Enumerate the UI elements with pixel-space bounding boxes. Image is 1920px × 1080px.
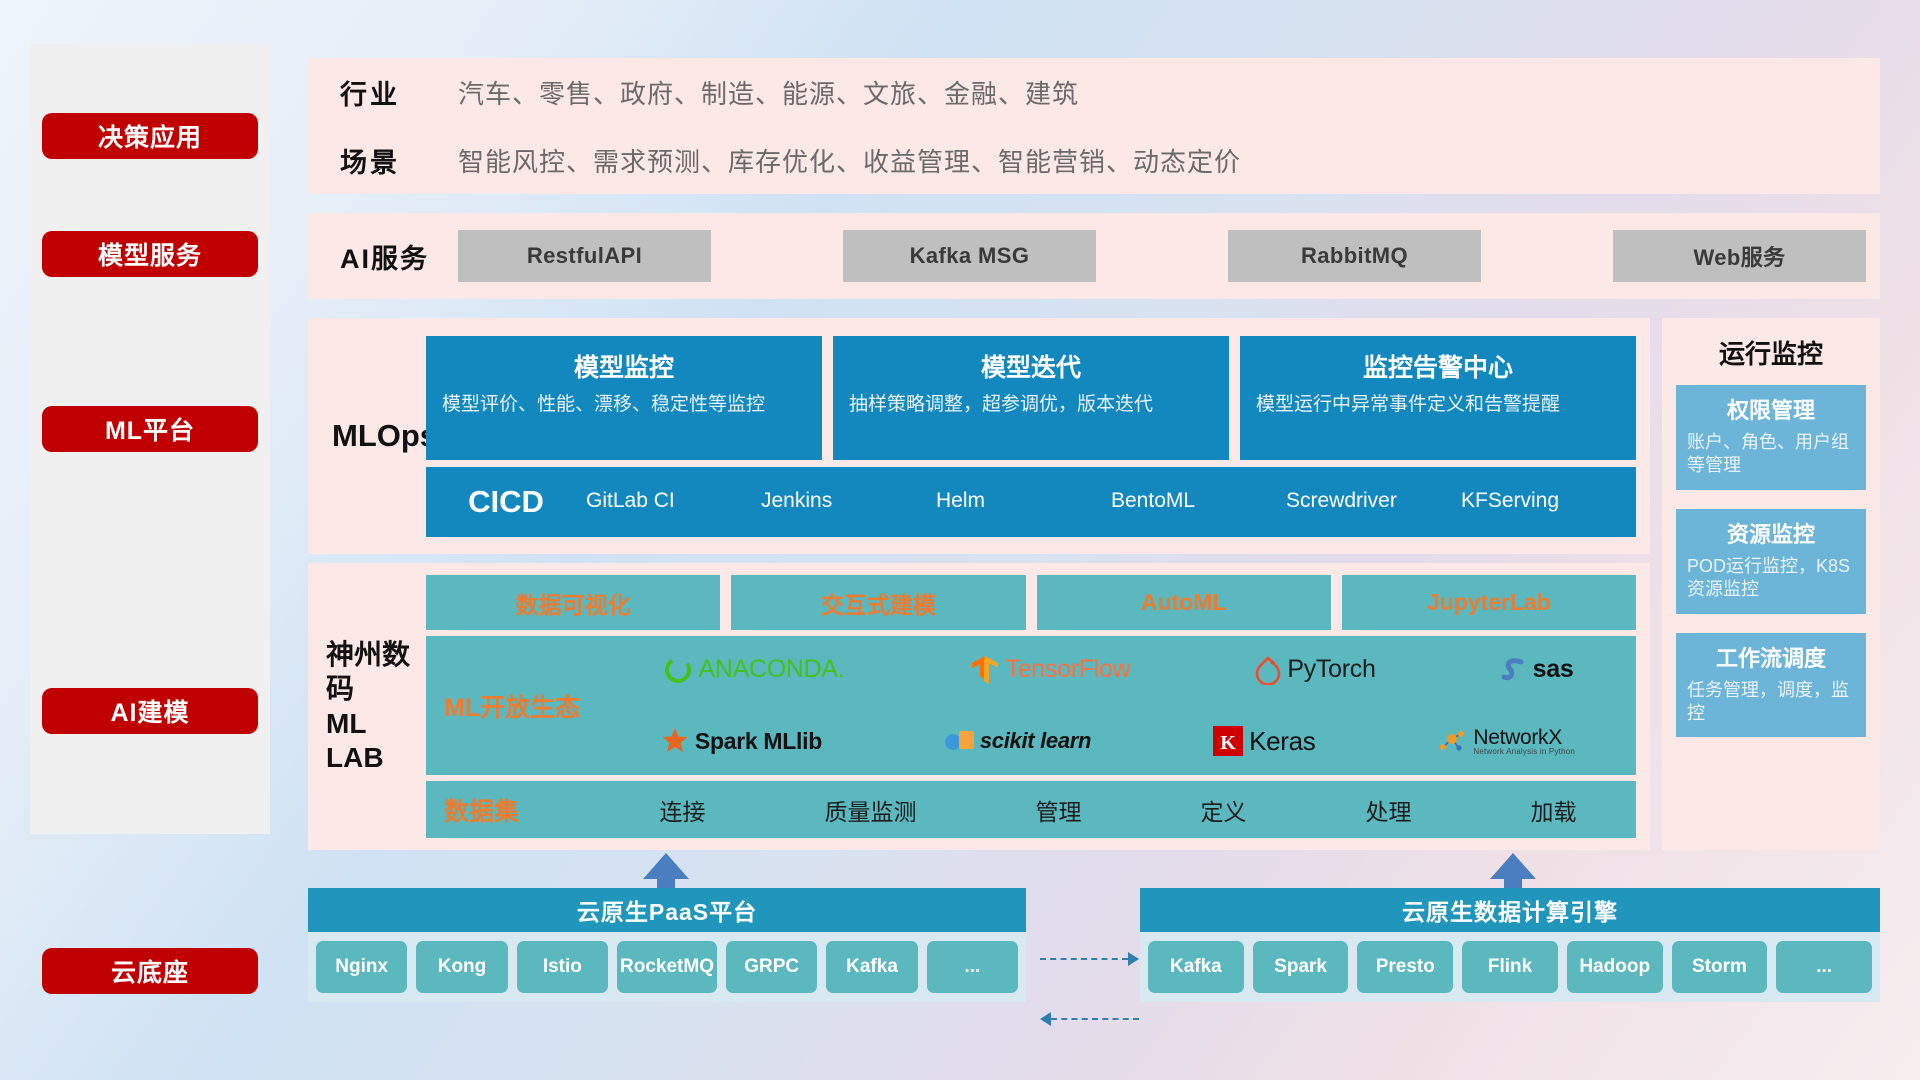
stage-chip-decision-app[interactable]: 决策应用 xyxy=(42,113,258,159)
cloud-chip-kafka[interactable]: Kafka xyxy=(826,941,917,993)
dataset-item-processing[interactable]: 处理 xyxy=(1366,793,1412,827)
ml-lab-label-line2: ML LAB xyxy=(326,707,426,775)
pytorch-icon xyxy=(1255,655,1281,685)
mlops-card-title: 监控告警中心 xyxy=(1256,348,1620,384)
anaconda-label: ANACONDA. xyxy=(699,655,845,684)
mlops-card-alert-center[interactable]: 监控告警中心 模型运行中异常事件定义和告警提醒 xyxy=(1240,336,1636,460)
monitor-card-permission[interactable]: 权限管理 账户、角色、用户组等管理 xyxy=(1676,385,1866,490)
cloud-chip-storm[interactable]: Storm xyxy=(1672,941,1768,993)
ai-service-item-label: RestfulAPI xyxy=(527,243,642,269)
tensorflow-icon xyxy=(970,654,1000,686)
ml-lab-label-line1: 神州数码 xyxy=(326,638,426,706)
dashed-arrow-right xyxy=(1040,952,1139,966)
tool-jupyterlab[interactable]: JupyterLab xyxy=(1342,575,1636,630)
tool-data-visualization[interactable]: 数据可视化 xyxy=(426,575,720,630)
dashed-arrow-head xyxy=(1040,1012,1051,1026)
ai-service-item-rabbitmq[interactable]: RabbitMQ xyxy=(1228,230,1481,282)
networkx-sublabel: Network Analysis in Python xyxy=(1473,748,1575,756)
stage-chip-cloud-base[interactable]: 云底座 xyxy=(42,948,258,994)
monitor-card-desc: 账户、角色、用户组等管理 xyxy=(1687,431,1855,478)
ml-lab-label: 神州数码 ML LAB xyxy=(308,638,426,775)
arrow-head xyxy=(1490,853,1536,879)
dataset-item-definition[interactable]: 定义 xyxy=(1201,793,1247,827)
tool-automl[interactable]: AutoML xyxy=(1037,575,1331,630)
stage-chip-label: ML平台 xyxy=(105,411,195,447)
dataset-label: 数据集 xyxy=(444,792,600,828)
dataset-item-management[interactable]: 管理 xyxy=(1036,793,1082,827)
keras-icon: K xyxy=(1213,726,1243,756)
ml-lab-tool-row: 数据可视化 交互式建模 AutoML JupyterLab xyxy=(426,575,1636,630)
dataset-item-list: 连接 质量监测 管理 定义 处理 加载 xyxy=(600,793,1636,827)
cloud-chip-istio[interactable]: Istio xyxy=(517,941,608,993)
mlops-card-title: 模型监控 xyxy=(442,348,806,384)
cicd-item-bentoml[interactable]: BentoML xyxy=(1111,490,1286,512)
cicd-item-jenkins[interactable]: Jenkins xyxy=(761,490,936,512)
ai-service-item-label: Kafka MSG xyxy=(910,243,1030,269)
ml-ecosystem-logo-row-1: ANACONDA. TensorFlow xyxy=(600,636,1636,704)
mlops-card-model-iteration[interactable]: 模型迭代 抽样策略调整，超参调优，版本迭代 xyxy=(833,336,1229,460)
ai-service-panel: AI服务 RestfulAPI Kafka MSG RabbitMQ Web服务 xyxy=(308,213,1880,299)
ml-ecosystem-logo-row-2: Spark MLlib scikit learn K xyxy=(600,708,1636,776)
tool-label: JupyterLab xyxy=(1427,589,1551,616)
ai-service-item-web-service[interactable]: Web服务 xyxy=(1613,230,1866,282)
sas-label: sas xyxy=(1533,655,1574,684)
cloud-paas-header: 云原生PaaS平台 xyxy=(308,888,1026,932)
networkx-icon xyxy=(1437,727,1467,755)
cloud-paas-chip-list: Nginx Kong Istio RocketMQ GRPC Kafka ... xyxy=(308,932,1026,1002)
anaconda-icon xyxy=(663,655,693,685)
dashed-arrow-head xyxy=(1128,952,1139,966)
industry-row: 行业 汽车、零售、政府、制造、能源、文旅、金融、建筑 xyxy=(308,58,1880,126)
scikit-learn-logo: scikit learn xyxy=(944,728,1091,754)
cloud-chip-nginx[interactable]: Nginx xyxy=(316,941,407,993)
ml-ecosystem-logo-grid: ANACONDA. TensorFlow xyxy=(600,636,1636,775)
scenario-row: 场景 智能风控、需求预测、库存优化、收益管理、智能营销、动态定价 xyxy=(308,126,1880,194)
cloud-chip-presto[interactable]: Presto xyxy=(1357,941,1453,993)
ml-lab-panel: 神州数码 ML LAB 数据可视化 交互式建模 AutoML JupyterLa… xyxy=(308,563,1650,850)
cloud-data-engine-group: 云原生数据计算引擎 Kafka Spark Presto Flink Hadoo… xyxy=(1140,888,1880,1002)
cloud-paas-group: 云原生PaaS平台 Nginx Kong Istio RocketMQ GRPC… xyxy=(308,888,1026,1002)
mlops-card-desc: 模型运行中异常事件定义和告警提醒 xyxy=(1256,392,1620,418)
cicd-item-screwdriver[interactable]: Screwdriver xyxy=(1286,490,1461,512)
ml-lab-content: 数据可视化 交互式建模 AutoML JupyterLab ML开放生态 xyxy=(426,565,1650,848)
mlops-panel: MLOps 模型监控 模型评价、性能、漂移、稳定性等监控 模型迭代 抽样策略调整… xyxy=(308,318,1650,554)
spark-icon xyxy=(661,727,689,755)
dashed-line xyxy=(1051,1018,1139,1020)
cloud-chip-rocketmq[interactable]: RocketMQ xyxy=(617,941,717,993)
cloud-chip-hadoop[interactable]: Hadoop xyxy=(1567,941,1663,993)
tensorflow-logo: TensorFlow xyxy=(970,654,1131,686)
mlops-card-row: 模型监控 模型评价、性能、漂移、稳定性等监控 模型迭代 抽样策略调整，超参调优，… xyxy=(426,336,1636,460)
cicd-item-list: GitLab CI Jenkins Helm BentoML Screwdriv… xyxy=(586,490,1636,512)
tool-label: 交互式建模 xyxy=(821,586,936,620)
industry-values: 汽车、零售、政府、制造、能源、文旅、金融、建筑 xyxy=(458,74,1079,111)
tool-interactive-modeling[interactable]: 交互式建模 xyxy=(731,575,1025,630)
cloud-chip-grpc[interactable]: GRPC xyxy=(726,941,817,993)
stage-chip-label: 模型服务 xyxy=(98,236,202,272)
networkx-logo: NetworkX Network Analysis in Python xyxy=(1437,727,1575,756)
anaconda-logo: ANACONDA. xyxy=(663,655,845,685)
pytorch-logo: PyTorch xyxy=(1255,655,1375,685)
dataset-item-quality-monitoring[interactable]: 质量监测 xyxy=(825,793,917,827)
monitor-card-title: 资源监控 xyxy=(1687,517,1855,549)
stage-chip-ai-modeling[interactable]: AI建模 xyxy=(42,688,258,734)
cicd-label: CICD xyxy=(426,484,586,520)
cicd-bar: CICD GitLab CI Jenkins Helm BentoML Scre… xyxy=(426,467,1636,537)
monitor-card-desc: 任务管理，调度，监控 xyxy=(1687,679,1855,726)
stage-chip-model-service[interactable]: 模型服务 xyxy=(42,231,258,277)
mlops-card-model-monitoring[interactable]: 模型监控 模型评价、性能、漂移、稳定性等监控 xyxy=(426,336,822,460)
monitor-card-workflow[interactable]: 工作流调度 任务管理，调度，监控 xyxy=(1676,633,1866,738)
cloud-chip-more[interactable]: ... xyxy=(1776,941,1872,993)
arrow-head xyxy=(643,853,689,879)
scikit-learn-icon xyxy=(944,728,974,754)
mlops-card-desc: 模型评价、性能、漂移、稳定性等监控 xyxy=(442,392,806,418)
cloud-chip-flink[interactable]: Flink xyxy=(1462,941,1558,993)
scikit-learn-label: scikit learn xyxy=(980,728,1091,754)
dataset-item-loading[interactable]: 加载 xyxy=(1531,793,1577,827)
ai-service-item-label: RabbitMQ xyxy=(1301,243,1408,269)
stage-chip-ml-platform[interactable]: ML平台 xyxy=(42,406,258,452)
networkx-label: NetworkX xyxy=(1473,727,1575,748)
mlops-content: 模型监控 模型评价、性能、漂移、稳定性等监控 模型迭代 抽样策略调整，超参调优，… xyxy=(426,326,1650,547)
monitor-card-title: 权限管理 xyxy=(1687,393,1855,425)
keras-logo: K Keras xyxy=(1213,726,1315,757)
mlops-card-desc: 抽样策略调整，超参调优，版本迭代 xyxy=(849,392,1213,418)
ml-ecosystem-row: ML开放生态 ANACONDA. TensorFlow xyxy=(426,636,1636,775)
spark-mllib-logo: Spark MLlib xyxy=(661,727,822,755)
spark-mllib-label: Spark MLlib xyxy=(695,728,822,755)
tool-label: AutoML xyxy=(1141,589,1227,616)
mlops-label: MLOps xyxy=(308,418,426,454)
industry-scenario-panel: 行业 汽车、零售、政府、制造、能源、文旅、金融、建筑 场景 智能风控、需求预测、… xyxy=(308,58,1880,194)
sas-logo: sas xyxy=(1501,655,1574,684)
svg-text:K: K xyxy=(1220,732,1236,754)
monitor-card-resource[interactable]: 资源监控 POD运行监控，K8S资源监控 xyxy=(1676,509,1866,614)
mlops-card-title: 模型迭代 xyxy=(849,348,1213,384)
cloud-data-engine-chip-list: Kafka Spark Presto Flink Hadoop Storm ..… xyxy=(1140,932,1880,1002)
ai-service-item-kafka-msg[interactable]: Kafka MSG xyxy=(843,230,1096,282)
pytorch-label: PyTorch xyxy=(1287,655,1375,684)
cicd-item-gitlab-ci[interactable]: GitLab CI xyxy=(586,490,761,512)
scenario-values: 智能风控、需求预测、库存优化、收益管理、智能营销、动态定价 xyxy=(458,142,1241,179)
cloud-chip-kong[interactable]: Kong xyxy=(416,941,507,993)
scenario-label: 场景 xyxy=(340,141,458,180)
dashed-arrow-left xyxy=(1040,1012,1139,1026)
cicd-item-helm[interactable]: Helm xyxy=(936,490,1111,512)
cloud-chip-more[interactable]: ... xyxy=(927,941,1018,993)
tensorflow-label: TensorFlow xyxy=(1006,655,1131,684)
cloud-data-engine-header: 云原生数据计算引擎 xyxy=(1140,888,1880,932)
industry-label: 行业 xyxy=(340,73,458,112)
tool-label: 数据可视化 xyxy=(516,586,631,620)
monitor-card-title: 工作流调度 xyxy=(1687,641,1855,673)
cicd-item-kfserving[interactable]: KFServing xyxy=(1461,490,1636,512)
stage-chip-label: AI建模 xyxy=(110,693,189,729)
dataset-row: 数据集 连接 质量监测 管理 定义 处理 加载 xyxy=(426,781,1636,838)
ai-service-item-label: Web服务 xyxy=(1693,240,1785,272)
dataset-item-connect[interactable]: 连接 xyxy=(660,793,706,827)
stage-chip-label: 决策应用 xyxy=(98,118,202,154)
sas-icon xyxy=(1501,656,1527,684)
stage-chip-label: 云底座 xyxy=(111,953,189,989)
cloud-chip-spark[interactable]: Spark xyxy=(1253,941,1349,993)
ml-ecosystem-label: ML开放生态 xyxy=(444,688,600,724)
ai-service-list: RestfulAPI Kafka MSG RabbitMQ Web服务 xyxy=(458,230,1880,282)
ai-service-label: AI服务 xyxy=(340,237,458,276)
cloud-chip-kafka[interactable]: Kafka xyxy=(1148,941,1244,993)
runtime-monitoring-title: 运行监控 xyxy=(1676,334,1866,371)
runtime-monitoring-panel: 运行监控 权限管理 账户、角色、用户组等管理 资源监控 POD运行监控，K8S资… xyxy=(1662,318,1880,850)
monitor-card-desc: POD运行监控，K8S资源监控 xyxy=(1687,555,1855,602)
keras-label: Keras xyxy=(1249,726,1315,757)
ai-service-item-restfulapi[interactable]: RestfulAPI xyxy=(458,230,711,282)
dashed-line xyxy=(1040,958,1128,960)
